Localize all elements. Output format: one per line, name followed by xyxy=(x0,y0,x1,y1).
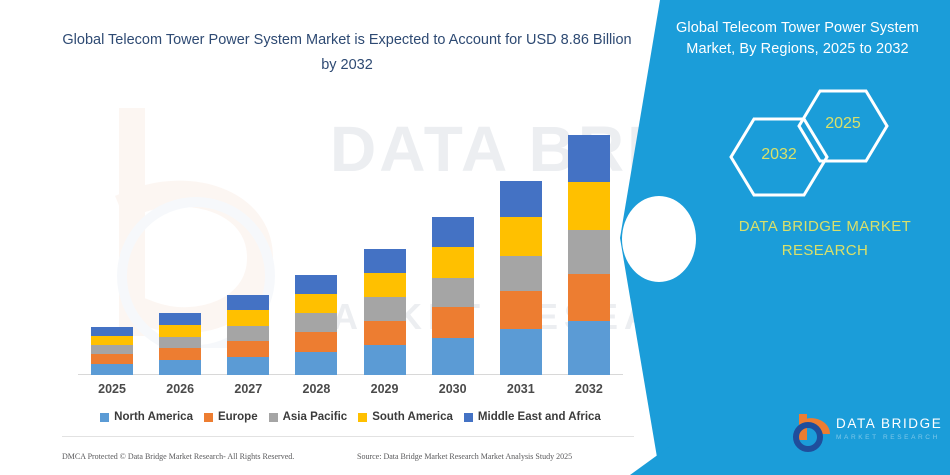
x-axis-label-2032: 2032 xyxy=(559,382,619,396)
bar-segment-asia-pacific xyxy=(568,230,610,274)
company-logo: DATA BRIDGE MARKET RESEARCH xyxy=(790,410,945,456)
bar-segment-north-america xyxy=(159,360,201,375)
legend-swatch-icon xyxy=(269,413,278,422)
bar-segment-middle-east-and-africa xyxy=(227,295,269,310)
bar-segment-north-america xyxy=(432,338,474,375)
bar-segment-europe xyxy=(295,332,337,352)
hexagon-end-year: 2032 xyxy=(728,116,830,198)
x-axis-label-2025: 2025 xyxy=(82,382,142,396)
legend-label: North America xyxy=(114,411,193,423)
footer: DMCA Protected © Data Bridge Market Rese… xyxy=(62,452,634,468)
company-logo-tagline: MARKET RESEARCH xyxy=(836,434,940,441)
infographic-canvas: DATA BRIDGE MARKET RESEARCH Global Telec… xyxy=(0,0,950,475)
bar-segment-south-america xyxy=(91,336,133,346)
legend-swatch-icon xyxy=(100,413,109,422)
bar-segment-asia-pacific xyxy=(295,313,337,331)
legend-swatch-icon xyxy=(204,413,213,422)
bar-segment-middle-east-and-africa xyxy=(500,181,542,218)
bar-2027 xyxy=(227,295,269,375)
bar-2029 xyxy=(364,249,406,375)
legend-item-north-america[interactable]: North America xyxy=(100,411,193,423)
bar-segment-europe xyxy=(364,321,406,346)
bar-segment-asia-pacific xyxy=(500,256,542,292)
bar-segment-europe xyxy=(91,354,133,364)
bar-segment-middle-east-and-africa xyxy=(159,313,201,324)
x-axis-label-2029: 2029 xyxy=(355,382,415,396)
bar-segment-north-america xyxy=(227,357,269,375)
bar-segment-north-america xyxy=(91,364,133,375)
bar-segment-europe xyxy=(227,341,269,357)
legend-label: Middle East and Africa xyxy=(478,411,601,423)
b-logo-icon xyxy=(790,410,832,452)
bar-segment-asia-pacific xyxy=(159,337,201,348)
bar-segment-europe xyxy=(500,291,542,329)
legend-label: South America xyxy=(372,411,453,423)
bar-segment-asia-pacific xyxy=(432,278,474,308)
footer-corner-accent xyxy=(630,446,670,475)
legend-item-asia-pacific[interactable]: Asia Pacific xyxy=(269,411,348,423)
page-title: Global Telecom Tower Power System Market… xyxy=(62,28,632,78)
bar-segment-asia-pacific xyxy=(364,297,406,320)
bar-2031 xyxy=(500,181,542,375)
legend-swatch-icon xyxy=(358,413,367,422)
bar-segment-asia-pacific xyxy=(91,345,133,354)
bar-segment-south-america xyxy=(364,273,406,298)
bar-segment-north-america xyxy=(364,345,406,375)
bar-segment-europe xyxy=(432,307,474,338)
bar-segment-south-america xyxy=(432,247,474,278)
bar-segment-north-america xyxy=(295,352,337,375)
bar-segment-north-america xyxy=(568,321,610,375)
bar-segment-south-america xyxy=(227,310,269,326)
bar-2032 xyxy=(568,135,610,375)
bar-segment-middle-east-and-africa xyxy=(364,249,406,272)
company-logo-name: DATA BRIDGE xyxy=(836,416,942,431)
legend-item-middle-east-and-africa[interactable]: Middle East and Africa xyxy=(464,411,601,423)
legend-swatch-icon xyxy=(464,413,473,422)
bar-segment-middle-east-and-africa xyxy=(91,327,133,336)
x-axis-label-2026: 2026 xyxy=(150,382,210,396)
bar-segment-europe xyxy=(568,274,610,321)
panel-notch xyxy=(622,196,696,282)
bar-segment-europe xyxy=(159,348,201,360)
hexagon-end-year-label: 2032 xyxy=(728,146,830,164)
legend-item-south-america[interactable]: South America xyxy=(358,411,453,423)
x-axis-label-2028: 2028 xyxy=(286,382,346,396)
footer-copyright: DMCA Protected © Data Bridge Market Rese… xyxy=(62,452,294,461)
brand-name-line2: RESEARCH xyxy=(700,239,950,263)
stacked-bar-chart xyxy=(78,125,623,375)
bar-segment-south-america xyxy=(159,325,201,337)
bar-2025 xyxy=(91,327,133,375)
bar-segment-north-america xyxy=(500,329,542,375)
bar-2030 xyxy=(432,217,474,375)
bar-segment-middle-east-and-africa xyxy=(295,275,337,293)
x-axis-label-2030: 2030 xyxy=(423,382,483,396)
legend-label: Asia Pacific xyxy=(283,411,348,423)
x-axis-label-2031: 2031 xyxy=(491,382,551,396)
bar-segment-south-america xyxy=(500,217,542,255)
bar-segment-middle-east-and-africa xyxy=(432,217,474,247)
brand-name: DATA BRIDGE MARKET RESEARCH xyxy=(700,215,950,263)
bar-segment-south-america xyxy=(568,182,610,230)
chart-legend: North AmericaEuropeAsia PacificSouth Ame… xyxy=(78,408,623,426)
bar-segment-middle-east-and-africa xyxy=(568,135,610,182)
bar-2026 xyxy=(159,313,201,375)
footer-divider xyxy=(62,436,634,437)
bar-segment-asia-pacific xyxy=(227,326,269,341)
x-axis-label-2027: 2027 xyxy=(218,382,278,396)
hexagon-group: 2025 2032 xyxy=(720,88,910,193)
bar-segment-south-america xyxy=(295,294,337,314)
legend-label: Europe xyxy=(218,411,258,423)
panel-title: Global Telecom Tower Power System Market… xyxy=(655,18,940,60)
chart-x-axis-labels: 20252026202720282029203020312032 xyxy=(78,382,623,400)
bar-2028 xyxy=(295,275,337,375)
brand-name-line1: DATA BRIDGE MARKET xyxy=(700,215,950,239)
legend-item-europe[interactable]: Europe xyxy=(204,411,258,423)
footer-source: Source: Data Bridge Market Research Mark… xyxy=(357,452,572,461)
